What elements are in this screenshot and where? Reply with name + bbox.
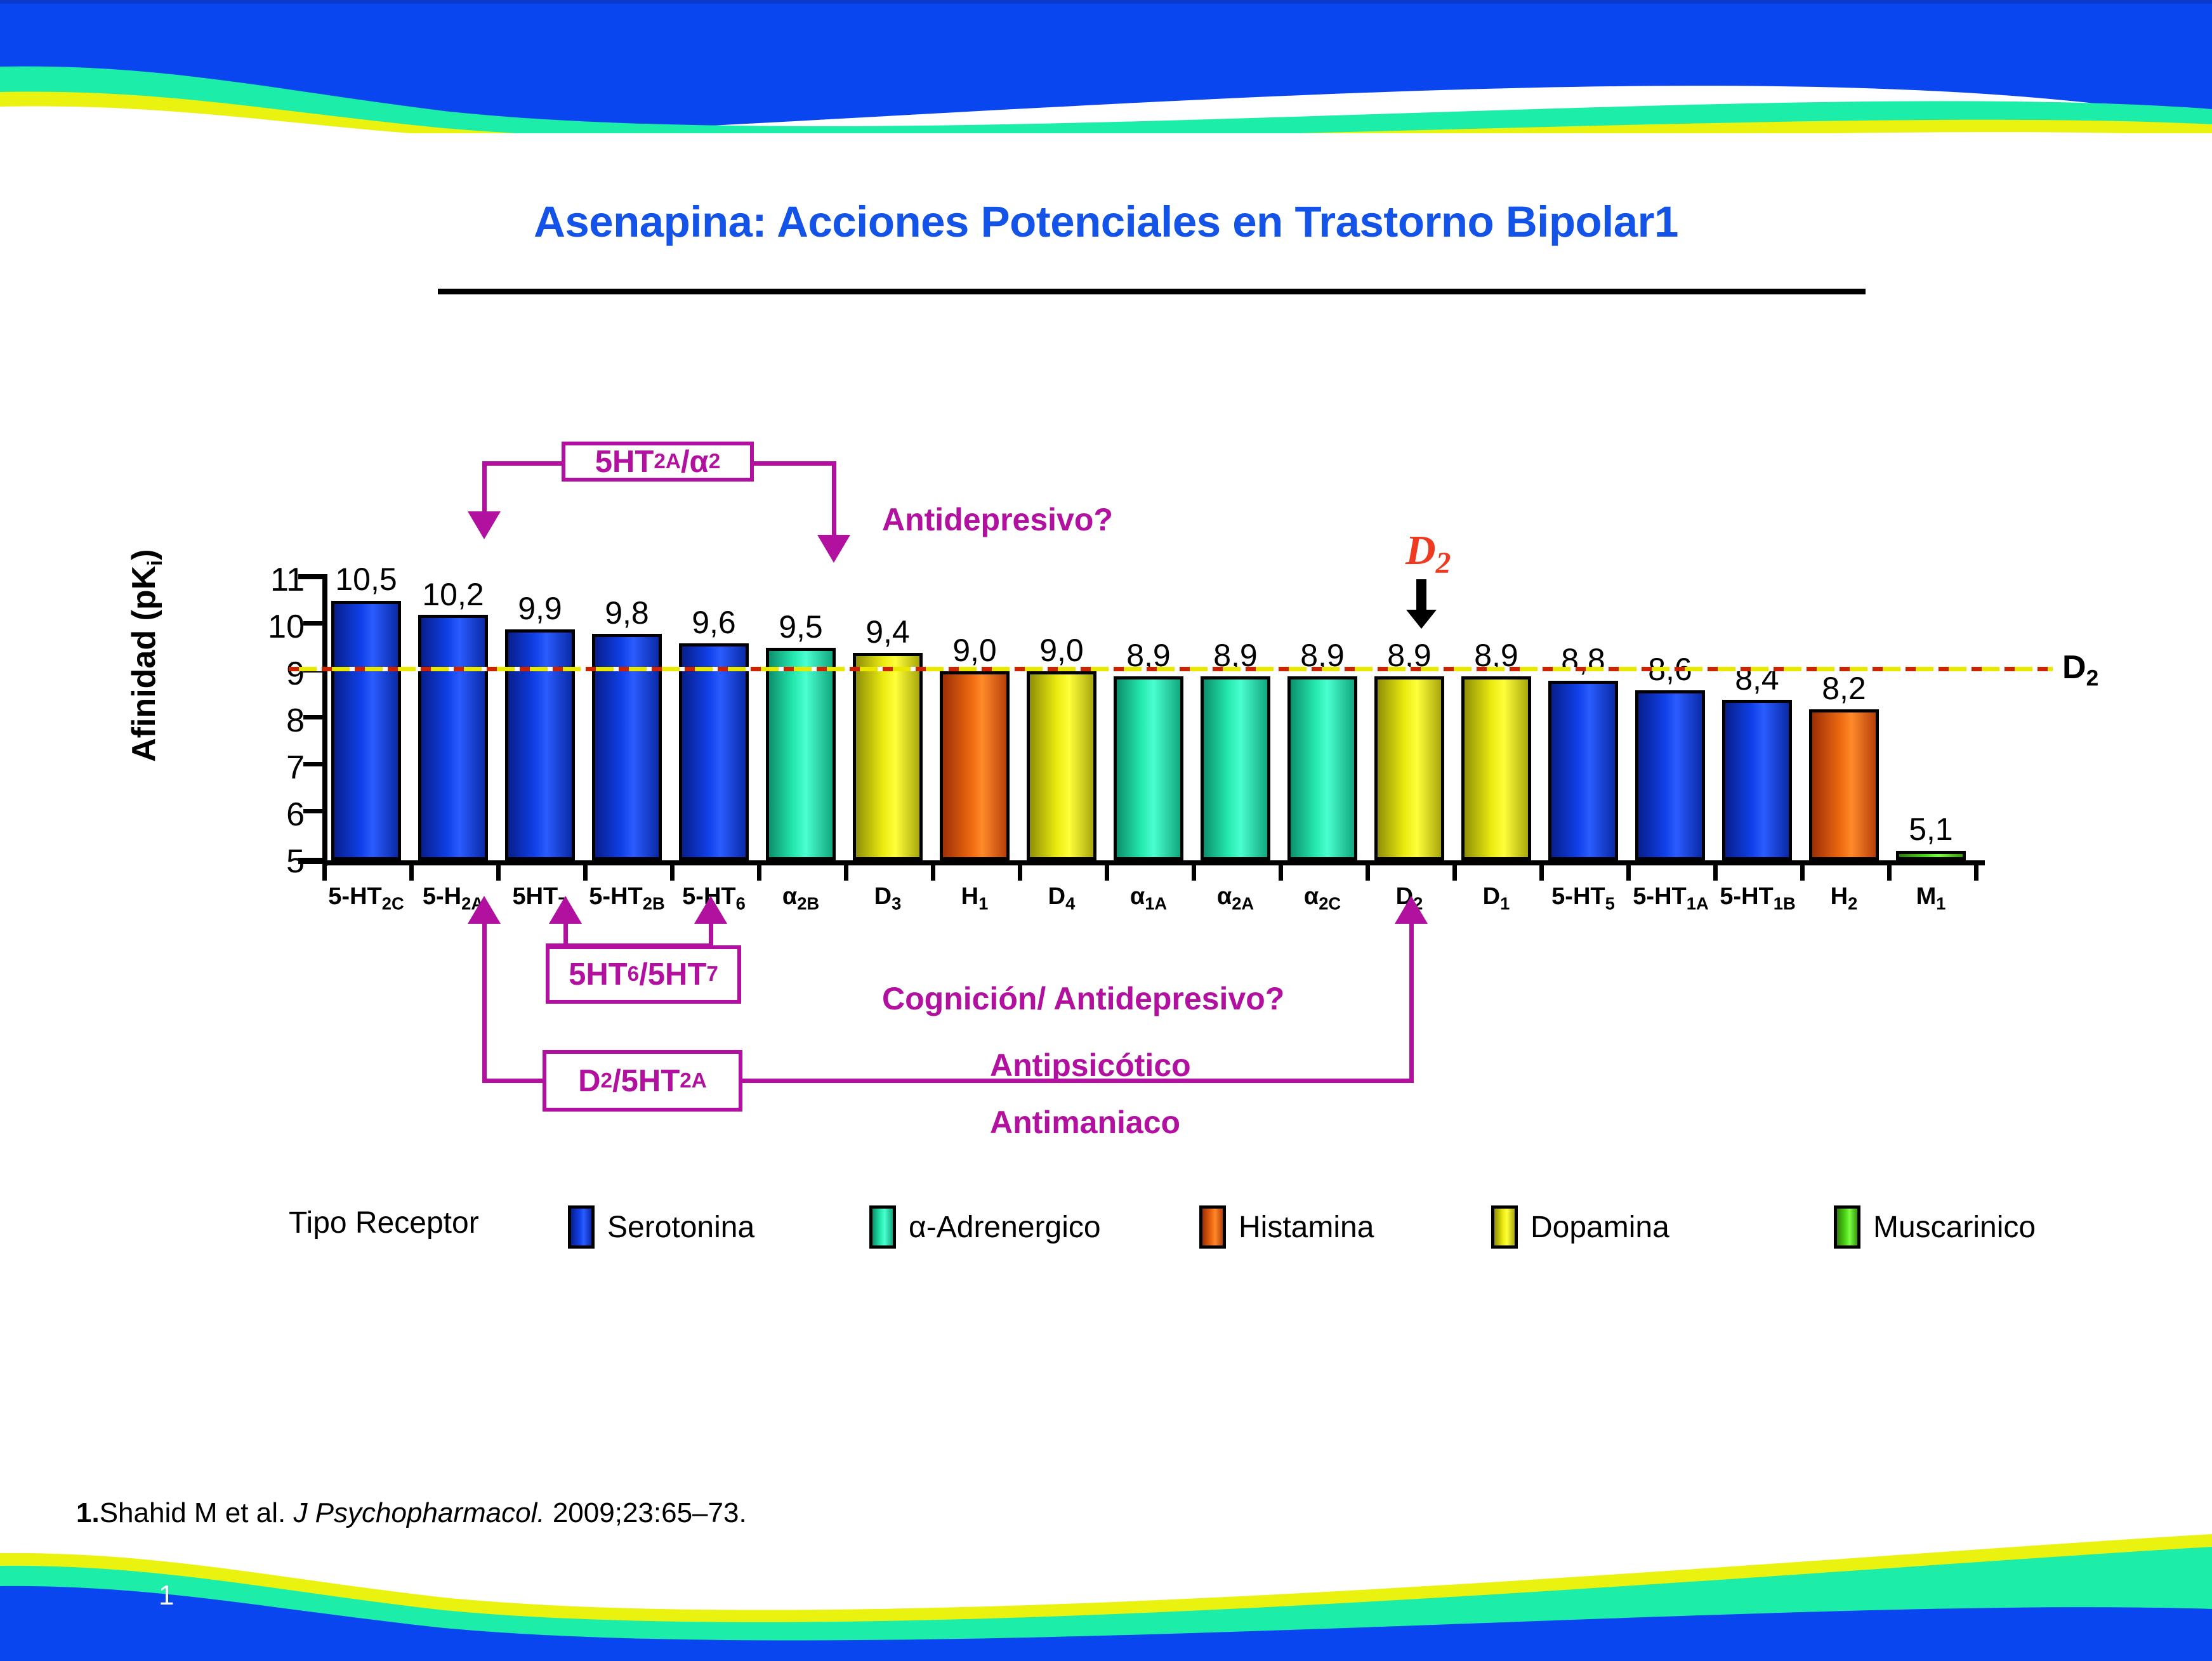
legend-item-adrenergico: α-Adrenergico — [869, 1205, 1101, 1249]
x-label-alpha2A: α2A — [1191, 883, 1280, 914]
y-tick-mark-10 — [303, 621, 327, 626]
y-tick-mark-6 — [303, 809, 327, 813]
callout-5ht6-5ht7[interactable]: 5HT6 /5HT7 — [546, 945, 741, 1004]
bar-5-HT2B — [592, 634, 662, 860]
callout3-line-right-h — [741, 1079, 1414, 1083]
bar-5HT7 — [505, 629, 575, 860]
bar-D4 — [1027, 671, 1096, 860]
d2-down-arrow-icon — [1402, 579, 1440, 632]
x-tick-mark-5 — [757, 860, 761, 881]
x-tick-mark-3 — [583, 860, 588, 881]
callout-line-left-v — [482, 461, 487, 514]
callout2-arrow-5ht6 — [694, 896, 727, 924]
x-label-5-HT5: 5-HT5 — [1539, 883, 1628, 914]
callout-line-left-h — [482, 461, 565, 466]
bar-5-HT1A — [1635, 690, 1705, 860]
legend-item-dopamina: Dopamina — [1491, 1205, 1669, 1249]
slide-number: 1 — [159, 1580, 174, 1612]
x-tick-mark-1 — [409, 860, 414, 881]
legend-swatch-serotonina — [568, 1205, 595, 1249]
bar-value-alpha2B: 9,5 — [756, 608, 845, 645]
legend-label-dopamina: Dopamina — [1531, 1210, 1669, 1245]
affinity-bar-chart: Afinidad (pKi) 11 10 9 8 7 6 5 — [0, 0, 2212, 1661]
legend-swatch-histamina — [1199, 1205, 1226, 1249]
callout2-arrow-5ht7 — [549, 896, 582, 924]
bar-value-5-HT2B: 9,8 — [583, 594, 671, 631]
x-tick-mark-19 — [1974, 860, 1978, 881]
callout2-line-v2 — [709, 907, 713, 945]
legend-item-muscarinico: Muscarinico — [1834, 1205, 2036, 1249]
x-label-5-HT1A: 5-HT1A — [1623, 883, 1718, 914]
y-tick-7: 7 — [247, 749, 305, 787]
legend-label-adrenergico: α-Adrenergico — [909, 1210, 1101, 1245]
y-tick-mark-11 — [298, 574, 327, 579]
x-tick-mark-7 — [931, 860, 935, 881]
y-axis-spine — [322, 574, 327, 866]
x-label-H2: H2 — [1800, 883, 1888, 914]
x-label-5-HT1B: 5-HT1B — [1710, 883, 1805, 914]
y-tick-11: 11 — [247, 561, 305, 599]
bar-value-D2: 8,9 — [1365, 637, 1454, 674]
bar-value-5-H2A: 10,2 — [409, 576, 497, 613]
bar-D1 — [1461, 676, 1531, 860]
x-tick-mark-9 — [1105, 860, 1109, 881]
bar-value-D1: 8,9 — [1452, 637, 1541, 674]
x-label-5-H2A: 5-H2A — [409, 883, 497, 914]
x-tick-mark-12 — [1366, 860, 1370, 881]
callout3-arrow-5h2a — [468, 896, 501, 924]
annotation-cognicion: Cognición/ Antidepresivo? — [882, 980, 1284, 1017]
top-banner-decoration — [0, 0, 2212, 133]
bottom-banner-decoration — [0, 1528, 2212, 1661]
x-axis-spine — [322, 860, 1985, 865]
bar-alpha2C — [1287, 676, 1357, 860]
reference-line-label: D2 — [2062, 648, 2098, 691]
legend-item-serotonina: Serotonina — [568, 1205, 754, 1249]
bar-value-M1: 5,1 — [1886, 811, 1975, 848]
legend-label-histamina: Histamina — [1239, 1210, 1374, 1245]
x-tick-mark-14 — [1539, 860, 1544, 881]
legend-label-muscarinico: Muscarinico — [1873, 1210, 2036, 1245]
annotation-antipsicotico: Antipsicótico — [990, 1047, 1191, 1084]
y-tick-9: 9 — [247, 655, 305, 693]
y-tick-10: 10 — [247, 608, 305, 646]
x-label-5HT7: 5HT7 — [496, 883, 584, 914]
y-tick-mark-8 — [303, 715, 327, 719]
x-label-D2: D2 — [1365, 883, 1454, 914]
bar-value-alpha1A: 8,9 — [1104, 637, 1193, 674]
bar-5-HT1B — [1722, 700, 1792, 860]
bar-D2 — [1374, 676, 1444, 860]
callout3-arrow-d2 — [1395, 896, 1428, 924]
bar-value-H1: 9,0 — [930, 632, 1019, 669]
x-tick-mark-0 — [322, 860, 327, 881]
d2-annotation-label: D2 — [1406, 527, 1451, 581]
bar-value-alpha2A: 8,9 — [1191, 637, 1280, 674]
annotation-antimaniaco: Antimaniaco — [990, 1104, 1180, 1141]
bar-5-HT2C — [331, 601, 401, 860]
x-label-H1: H1 — [930, 883, 1019, 914]
y-tick-8: 8 — [247, 702, 305, 740]
bar-H1 — [940, 671, 1010, 860]
y-tick-6: 6 — [247, 796, 305, 834]
x-tick-mark-2 — [496, 860, 501, 881]
citation-detail: 2009;23:65–73. — [545, 1497, 747, 1528]
legend-prefix: Tipo Receptor — [289, 1205, 479, 1240]
bar-5-H2A — [418, 615, 488, 860]
slide: Asenapina: Acciones Potenciales en Trast… — [0, 0, 2212, 1661]
bar-D3 — [853, 653, 923, 860]
x-label-5-HT2B: 5-HT2B — [583, 883, 671, 914]
chart-legend: Tipo Receptor Serotonina α-Adrenergico H… — [0, 1205, 2212, 1256]
x-tick-mark-6 — [844, 860, 848, 881]
bar-value-D4: 9,0 — [1017, 632, 1106, 669]
y-tick-mark-5 — [298, 858, 327, 864]
bar-value-D3: 9,4 — [843, 614, 932, 650]
citation-marker: 1. — [76, 1497, 100, 1528]
title-underline — [438, 289, 1866, 294]
reference-line-pki9 — [289, 667, 2053, 671]
y-tick-mark-7 — [303, 762, 327, 766]
bar-5-HT6 — [679, 643, 749, 860]
x-label-5-HT6: 5-HT6 — [669, 883, 758, 914]
bar-alpha2A — [1201, 676, 1270, 860]
citation-footnote: 1.Shahid M et al. J Psychopharmacol. 200… — [76, 1497, 747, 1529]
y-tick-5: 5 — [247, 843, 305, 881]
y-axis-title: Afinidad (pKi) — [125, 497, 167, 814]
x-label-5-HT2C: 5-HT2C — [322, 883, 411, 914]
x-tick-mark-16 — [1713, 860, 1718, 881]
bar-value-5-HT1A: 8,6 — [1626, 651, 1715, 688]
callout-arrow-right — [817, 535, 850, 563]
x-label-D4: D4 — [1017, 883, 1106, 914]
x-label-alpha1A: α1A — [1104, 883, 1193, 914]
y-tick-mark-9 — [303, 668, 327, 673]
x-label-D1: D1 — [1452, 883, 1541, 914]
callout-arrow-left — [468, 511, 501, 539]
callout3-line-left-h — [482, 1079, 546, 1083]
legend-prefix-label: Tipo Receptor — [289, 1205, 479, 1240]
bar-alpha1A — [1114, 676, 1183, 860]
bar-value-5-HT1B: 8,4 — [1713, 660, 1801, 697]
x-tick-mark-8 — [1018, 860, 1022, 881]
bar-value-5HT7: 9,9 — [496, 590, 584, 627]
callout3-line-left-v — [482, 907, 487, 1083]
callout-line-right-v — [832, 461, 836, 537]
callout-d2-5ht2a[interactable]: D2/5HT2A — [543, 1050, 742, 1112]
x-label-alpha2C: α2C — [1278, 883, 1367, 914]
legend-item-histamina: Histamina — [1199, 1205, 1374, 1249]
bar-value-5-HT5: 8,8 — [1539, 641, 1628, 678]
x-tick-mark-10 — [1192, 860, 1196, 881]
x-tick-mark-11 — [1279, 860, 1283, 881]
x-tick-mark-13 — [1452, 860, 1457, 881]
bar-alpha2B — [766, 648, 836, 860]
legend-swatch-dopamina — [1491, 1205, 1518, 1249]
bar-value-5-HT6: 9,6 — [669, 604, 758, 641]
bar-value-H2: 8,2 — [1800, 670, 1888, 707]
legend-label-serotonina: Serotonina — [607, 1210, 754, 1245]
bar-M1 — [1896, 851, 1966, 860]
callout3-line-right-v — [1409, 907, 1414, 1083]
legend-swatch-adrenergico — [869, 1205, 896, 1249]
annotation-antidepresivo: Antidepresivo? — [882, 501, 1113, 538]
callout2-line-v1 — [563, 907, 568, 945]
bar-value-5-HT2C: 10,5 — [322, 561, 411, 598]
bar-H2 — [1809, 709, 1879, 860]
x-label-alpha2B: α2B — [756, 883, 845, 914]
legend-swatch-muscarinico — [1834, 1205, 1860, 1249]
callout-line-right-h — [751, 461, 836, 466]
bar-5-HT5 — [1548, 681, 1618, 860]
x-tick-mark-18 — [1887, 860, 1892, 881]
page-title: Asenapina: Acciones Potenciales en Trast… — [0, 197, 2212, 247]
bar-value-alpha2C: 8,9 — [1278, 637, 1367, 674]
x-tick-mark-15 — [1626, 860, 1631, 881]
x-tick-mark-17 — [1800, 860, 1805, 881]
callout2-line-h — [546, 943, 713, 948]
x-label-D3: D3 — [843, 883, 932, 914]
citation-journal: J Psychopharmacol. — [293, 1497, 544, 1528]
citation-authors: Shahid M et al. — [100, 1497, 294, 1528]
callout-5ht2a-alpha2[interactable]: 5HT2A /α2 — [562, 442, 754, 482]
x-label-M1: M1 — [1886, 883, 1975, 914]
x-tick-mark-4 — [670, 860, 675, 881]
